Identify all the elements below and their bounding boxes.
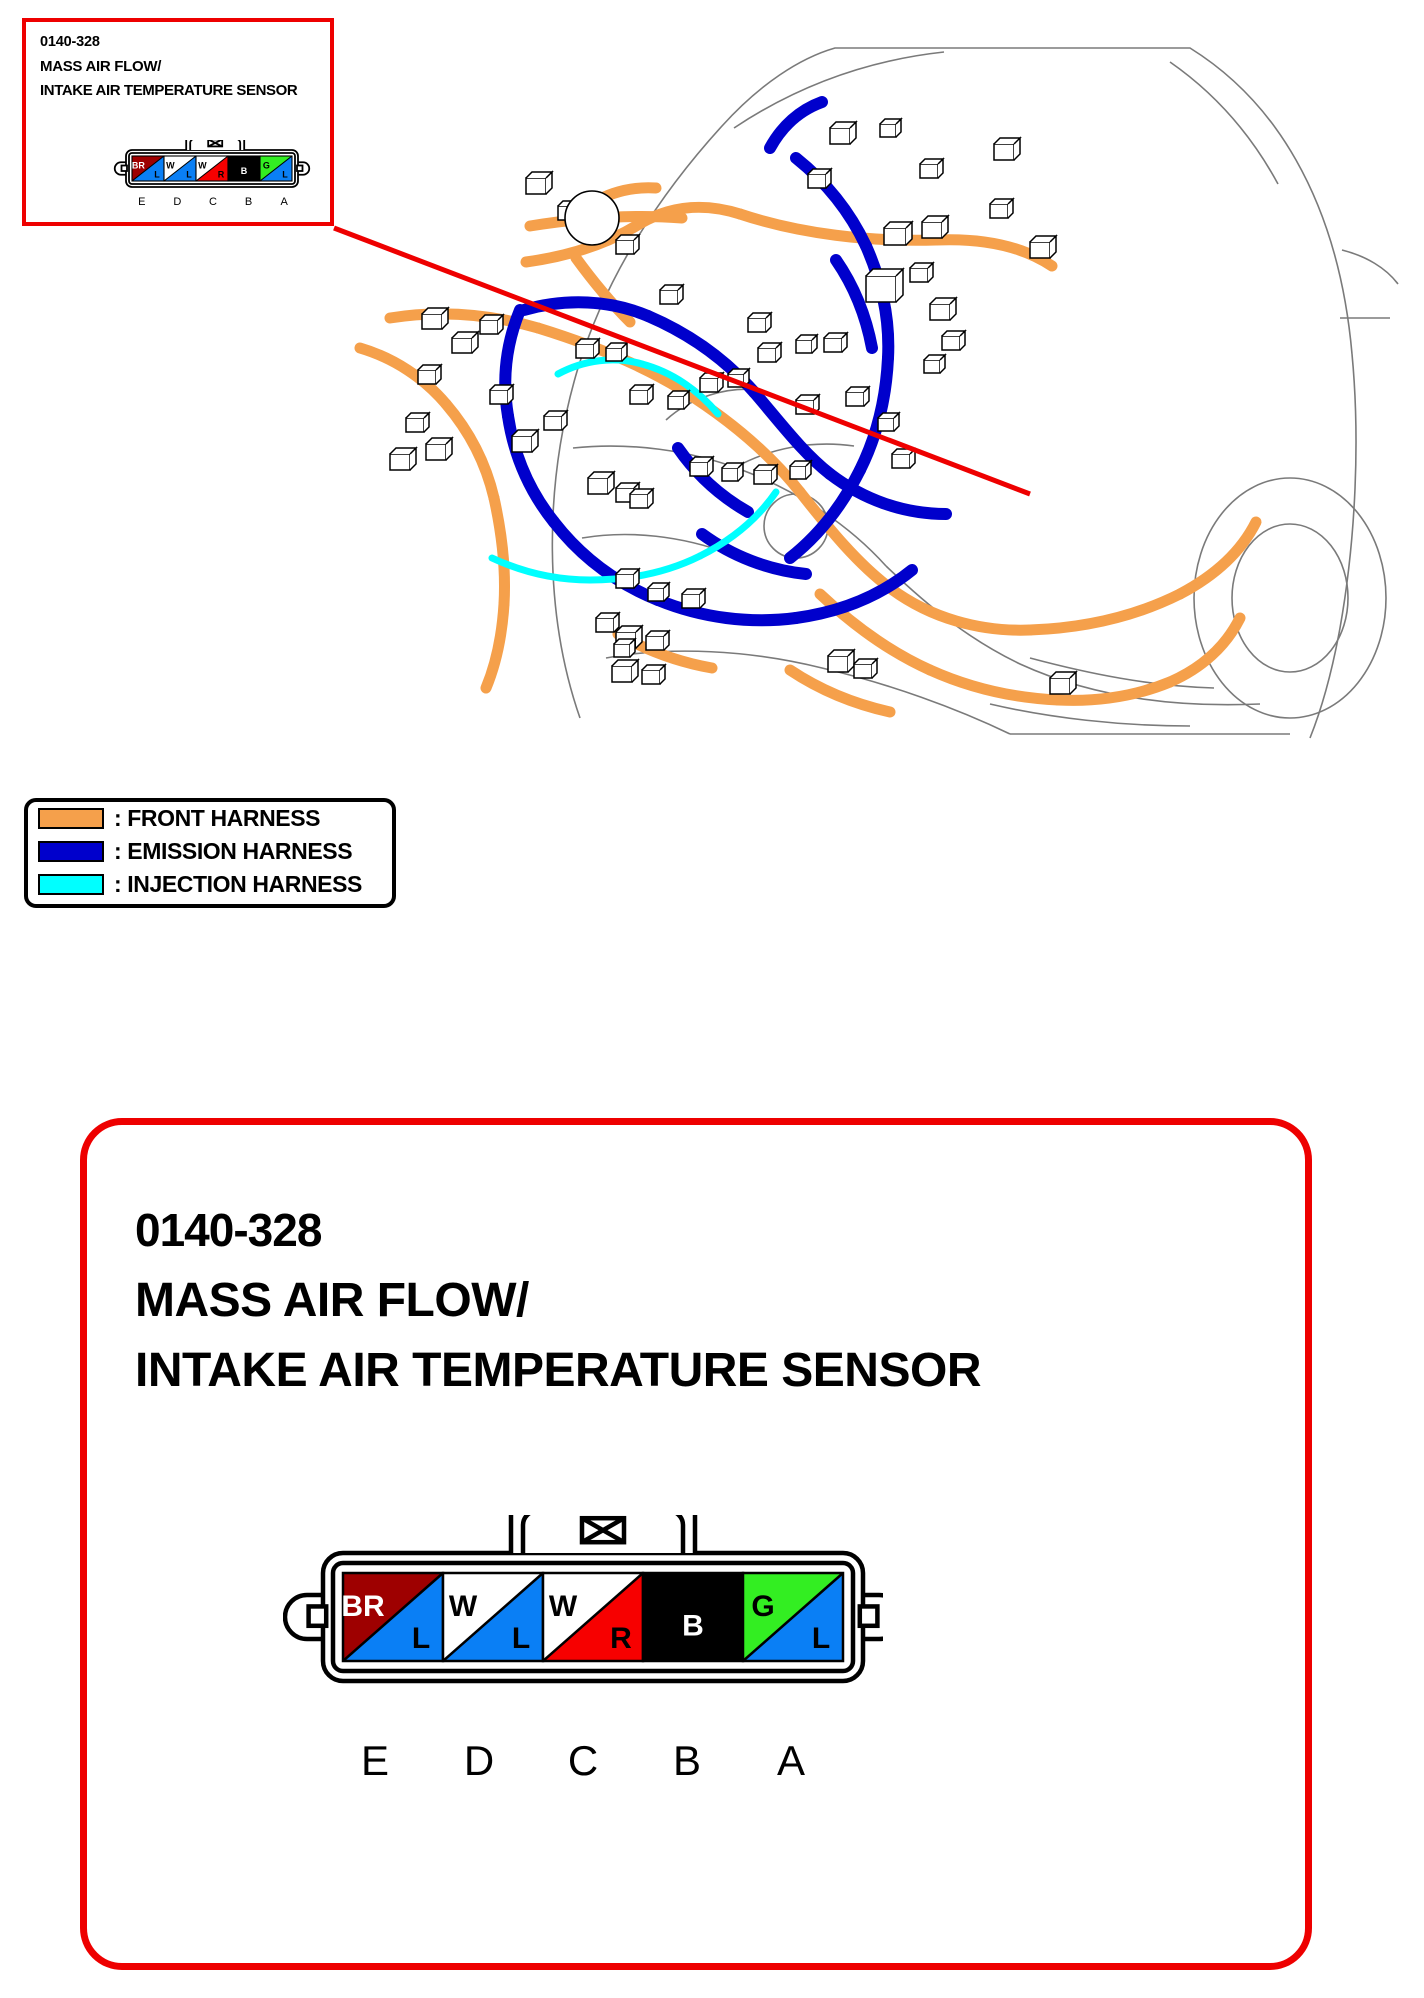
svg-text:G: G: [263, 160, 270, 170]
bottom-callout-line1: MASS AIR FLOW/: [135, 1273, 529, 1328]
svg-text:W: W: [166, 160, 175, 170]
legend-row-front-harness: : FRONT HARNESS: [38, 802, 392, 835]
connector-pin-C: WR: [196, 156, 228, 181]
svg-text:B: B: [682, 1609, 704, 1642]
connector-pin-label-C: C: [531, 1737, 635, 1785]
connector-pin-B: B: [228, 156, 260, 181]
svg-text:R: R: [218, 169, 225, 179]
svg-text:W: W: [549, 1590, 578, 1623]
svg-text:L: L: [812, 1622, 830, 1655]
svg-text:G: G: [751, 1590, 774, 1623]
top-callout-line1: MASS AIR FLOW/: [40, 58, 161, 75]
connector-pin-D: WL: [164, 156, 196, 181]
connector-pin-label-E: E: [124, 196, 160, 208]
connector-pin-A: GL: [260, 156, 292, 181]
connector-pin-label-C: C: [195, 196, 231, 208]
connector-pin-C: WR: [543, 1573, 643, 1661]
mini-connector-graphic: BRLWLWRBGL: [110, 140, 316, 198]
svg-text:B: B: [241, 166, 248, 176]
connector-pin-A: GL: [743, 1573, 843, 1661]
svg-text:L: L: [154, 169, 160, 179]
svg-text:BR: BR: [341, 1590, 385, 1623]
legend-label-emission-harness: : EMISSION HARNESS: [114, 838, 352, 865]
connector-pin-B: B: [643, 1573, 743, 1661]
svg-text:W: W: [198, 160, 207, 170]
legend-swatch-emission-harness: [38, 841, 104, 862]
mini-connector-pin-labels: EDCBA: [124, 196, 302, 208]
legend-row-emission-harness: : EMISSION HARNESS: [38, 835, 392, 868]
legend-swatch-front-harness: [38, 808, 104, 829]
bottom-callout-code: 0140-328: [135, 1203, 321, 1257]
top-callout-line2: INTAKE AIR TEMPERATURE SENSOR: [40, 82, 297, 99]
connector-pin-D: WL: [443, 1573, 543, 1661]
bottom-callout-line2: INTAKE AIR TEMPERATURE SENSOR: [135, 1343, 981, 1398]
connector-pin-label-B: B: [635, 1737, 739, 1785]
harness-connector-blocks: [390, 119, 1076, 694]
connector-pin-label-E: E: [323, 1737, 427, 1785]
svg-text:L: L: [186, 169, 192, 179]
connector-pin-label-A: A: [739, 1737, 843, 1785]
brake-booster-circle: [565, 191, 619, 245]
legend-label-injection-harness: : INJECTION HARNESS: [114, 871, 362, 898]
bottom-callout-box: 0140-328 MASS AIR FLOW/ INTAKE AIR TEMPE…: [80, 1118, 1312, 1970]
legend-row-injection-harness: : INJECTION HARNESS: [38, 868, 392, 901]
svg-text:W: W: [449, 1590, 478, 1623]
connector-pin-label-B: B: [231, 196, 267, 208]
engine-bay-illustration: [330, 18, 1410, 758]
connector-pin-E: BRL: [341, 1573, 443, 1661]
legend-swatch-injection-harness: [38, 874, 104, 895]
connector-pin-label-D: D: [160, 196, 196, 208]
mini-connector-diagram: BRLWLWRBGL EDCBA: [110, 140, 316, 218]
connector-pin-label-D: D: [427, 1737, 531, 1785]
main-connector-diagram: BRLWLWRBGL EDCBA: [283, 1515, 883, 1805]
legend-label-front-harness: : FRONT HARNESS: [114, 805, 320, 832]
connector-pin-E: BRL: [132, 156, 164, 181]
svg-text:L: L: [512, 1622, 530, 1655]
svg-text:L: L: [412, 1622, 430, 1655]
svg-text:R: R: [610, 1622, 632, 1655]
connector-pin-label-A: A: [266, 196, 302, 208]
main-connector-graphic: BRLWLWRBGL: [283, 1515, 883, 1735]
harness-legend: : FRONT HARNESS : EMISSION HARNESS : INJ…: [24, 798, 396, 908]
svg-text:BR: BR: [132, 160, 145, 170]
main-connector-pin-labels: EDCBA: [323, 1737, 843, 1785]
svg-text:L: L: [282, 169, 288, 179]
top-callout-box: 0140-328 MASS AIR FLOW/ INTAKE AIR TEMPE…: [22, 18, 334, 226]
top-callout-code: 0140-328: [40, 34, 100, 50]
